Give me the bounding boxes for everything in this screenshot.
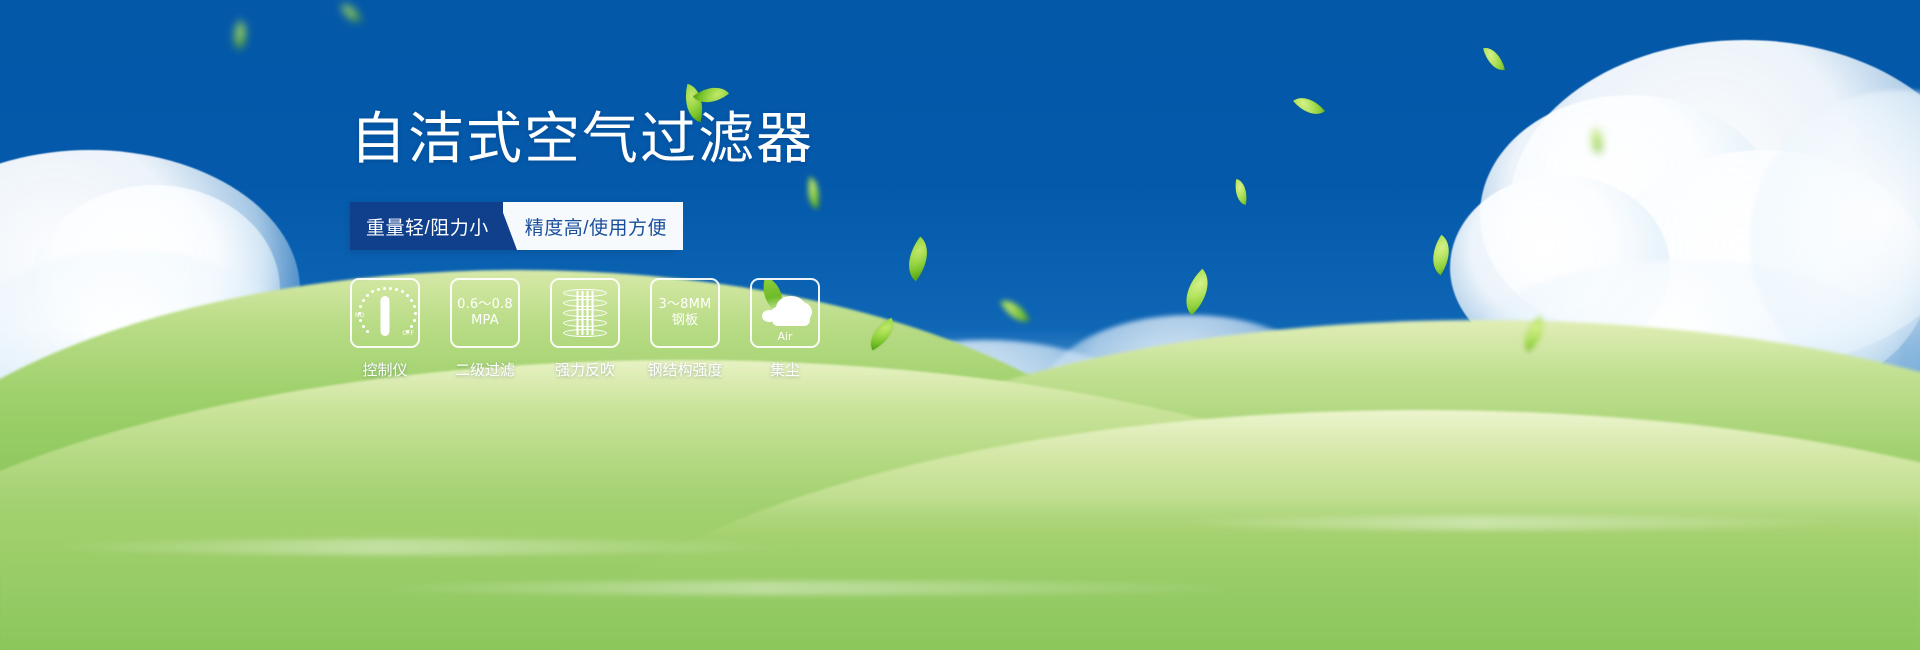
air-label: Air bbox=[756, 330, 814, 343]
filter-cartridge-icon bbox=[562, 287, 608, 339]
hero-banner: 自洁式空气过滤器 重量轻/阻力小 精度高/使用方便 bbox=[0, 0, 1920, 650]
feature-label: 控制仪 bbox=[362, 359, 407, 380]
steel-thickness: 3～8MM bbox=[659, 297, 712, 313]
banner-copy: 自洁式空气过滤器 重量轻/阻力小 精度高/使用方便 bbox=[350, 108, 970, 380]
gauge-icon: NO OFF bbox=[355, 284, 415, 342]
gauge-off-label: OFF bbox=[402, 330, 414, 337]
feature-label: 钢结构强度 bbox=[648, 359, 723, 380]
feature-label: 强力反吹 bbox=[555, 359, 615, 380]
feature-item-backblow[interactable]: 强力反吹 bbox=[550, 278, 620, 380]
pressure-value: 0.6～0.8 bbox=[457, 297, 513, 313]
subtitle-right: 精度高/使用方便 bbox=[503, 202, 683, 250]
pressure-unit: MPA bbox=[457, 313, 513, 329]
gauge-on-label: NO bbox=[355, 312, 364, 319]
feature-icon-box: Air bbox=[750, 278, 820, 348]
feature-icon-box bbox=[550, 278, 620, 348]
leaf-decoration bbox=[1232, 179, 1250, 205]
leaf-decoration bbox=[1174, 269, 1221, 315]
grass-streak-a bbox=[40, 539, 800, 555]
leaf-decoration bbox=[1483, 44, 1505, 73]
steel-material: 钢板 bbox=[659, 313, 712, 329]
air-cloud-icon: Air bbox=[756, 286, 814, 340]
pressure-text-icon: 0.6～0.8 MPA bbox=[457, 297, 513, 329]
title-row: 自洁式空气过滤器 bbox=[350, 108, 970, 180]
subtitle-left: 重量轻/阻力小 bbox=[350, 202, 503, 250]
feature-list: NO OFF 控制仪 0.6～0.8 MPA 二级过滤 bbox=[350, 278, 970, 380]
feature-item-controller[interactable]: NO OFF 控制仪 bbox=[350, 278, 420, 380]
gauge-needle bbox=[381, 296, 390, 336]
feature-label: 二级过滤 bbox=[455, 359, 515, 380]
grass-streak-c bbox=[1160, 516, 1860, 530]
feature-item-steel[interactable]: 3～8MM 钢板 钢结构强度 bbox=[650, 278, 720, 380]
leaf-decoration bbox=[1000, 294, 1030, 329]
steel-plate-text-icon: 3～8MM 钢板 bbox=[659, 297, 712, 329]
leaf-decoration bbox=[227, 20, 254, 51]
grass-streak-b bbox=[360, 581, 1260, 595]
feature-item-pressure[interactable]: 0.6～0.8 MPA 二级过滤 bbox=[450, 278, 520, 380]
feature-label: 集尘 bbox=[770, 359, 800, 380]
leaf-decoration bbox=[1293, 89, 1325, 122]
feature-icon-box: NO OFF bbox=[350, 278, 420, 348]
feature-item-dust[interactable]: Air 集尘 bbox=[750, 278, 820, 380]
feature-icon-box: 0.6～0.8 MPA bbox=[450, 278, 520, 348]
leaf-decoration bbox=[341, 0, 362, 25]
subtitle-bar: 重量轻/阻力小 精度高/使用方便 bbox=[350, 202, 674, 250]
feature-icon-box: 3～8MM 钢板 bbox=[650, 278, 720, 348]
page-title: 自洁式空气过滤器 bbox=[350, 108, 970, 172]
